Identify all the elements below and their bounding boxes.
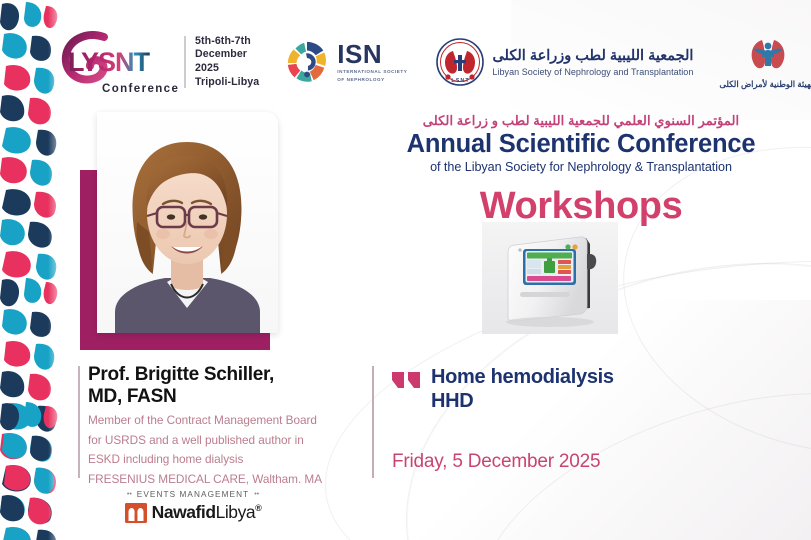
topic-date: Friday, 5 December 2025 bbox=[392, 451, 722, 473]
date-month: December bbox=[195, 48, 259, 62]
topic-title-line1: Home hemodialysis bbox=[431, 366, 614, 390]
speaker-photo bbox=[97, 112, 278, 333]
dots-right: •• bbox=[254, 491, 259, 498]
nakd-logo: الهيئة الوطنية لأمراض الكلى bbox=[719, 36, 811, 89]
lysnt-logo: LYSNT Conference bbox=[60, 27, 182, 97]
title-subtitle: of the Libyan Society for Nephrology & T… bbox=[371, 160, 791, 176]
nakd-arabic-name: الهيئة الوطنية لأمراض الكلى bbox=[719, 79, 811, 89]
nawafid-libya-logo: NawafidLibya® bbox=[78, 502, 308, 523]
conference-title-block: المؤتمر السنوي العلمي للجمعية الليبية لط… bbox=[371, 112, 791, 225]
kidney-seal-icon: L.S.N.T bbox=[435, 37, 485, 87]
title-main: Annual Scientific Conference bbox=[371, 130, 791, 159]
topic-title-line2: HHD bbox=[431, 390, 614, 414]
lsnt-logo: L.S.N.T الجمعية الليبية لطب وزراعة الكلى… bbox=[435, 37, 693, 87]
speaker-desc-line2: for USRDS and a well published author in bbox=[88, 432, 368, 449]
date-location: Tripoli-Libya bbox=[195, 76, 259, 90]
speaker-info: Prof. Brigitte Schiller, MD, FASN Member… bbox=[88, 364, 368, 488]
svg-text:L.S.N.T: L.S.N.T bbox=[452, 78, 469, 84]
dots-left: •• bbox=[127, 491, 132, 498]
nawafid-arches-icon bbox=[125, 503, 147, 523]
footer-credits: •• EVENTS MANAGEMENT •• NawafidLibya® bbox=[78, 490, 308, 523]
lsnt-arabic-name: الجمعية الليبية لطب وزراعة الكلى bbox=[492, 47, 693, 65]
topic-divider bbox=[372, 366, 374, 478]
isn-circle-arcs-icon bbox=[283, 38, 331, 86]
speaker-desc-line1: Member of the Contract Management Board bbox=[88, 412, 368, 429]
portrait-frame-bottom bbox=[80, 333, 270, 350]
workshops-heading: Workshops bbox=[371, 187, 791, 225]
conference-dates: 5th-6th-7th December 2025 Tripoli-Libya bbox=[195, 35, 259, 89]
nawafid-libya-text: NawafidLibya® bbox=[152, 502, 262, 523]
speaker-name-line1: Prof. Brigitte Schiller, bbox=[88, 364, 368, 386]
brand-light: Libya bbox=[216, 502, 256, 522]
quote-marks-icon bbox=[392, 370, 422, 392]
topic-info: Home hemodialysis HHD Friday, 5 December… bbox=[392, 366, 722, 473]
date-days: 5th-6th-7th bbox=[195, 35, 259, 49]
isn-sub-line2: OF NEPHROLOGY bbox=[337, 77, 407, 83]
title-arabic: المؤتمر السنوي العلمي للجمعية الليبية لط… bbox=[371, 112, 791, 129]
svg-text:LYSNT: LYSNT bbox=[68, 47, 151, 77]
speaker-name-line2: MD, FASN bbox=[88, 386, 368, 408]
date-year: 2025 bbox=[195, 62, 259, 76]
lysnt-conference-word: Conference bbox=[102, 83, 179, 95]
kidney-figure-icon bbox=[746, 36, 790, 76]
speaker-divider bbox=[78, 366, 80, 478]
brand-bold: Nawafid bbox=[152, 502, 216, 522]
events-management-text: EVENTS MANAGEMENT bbox=[137, 490, 249, 499]
poster-header: LYSNT Conference 5th-6th-7th December 20… bbox=[60, 16, 801, 108]
lsnt-english-name: Libyan Society of Nephrology and Transpl… bbox=[492, 67, 693, 77]
speaker-desc-line4: FRESENIUS MEDICAL CARE, Waltham. MA bbox=[88, 471, 368, 488]
isn-sub-line1: INTERNATIONAL SOCIETY bbox=[337, 69, 407, 75]
speaker-portrait bbox=[80, 112, 278, 350]
speaker-desc-line3: ESKD including home dialysis bbox=[88, 451, 368, 468]
header-divider-1 bbox=[184, 36, 186, 88]
isn-abbr: ISN bbox=[337, 41, 407, 67]
events-management-label: •• EVENTS MANAGEMENT •• bbox=[78, 490, 308, 499]
brand-star: ® bbox=[255, 503, 261, 513]
hemodialysis-machine-image bbox=[482, 222, 618, 334]
portrait-frame-left bbox=[80, 170, 97, 350]
isn-logo: ISN INTERNATIONAL SOCIETY OF NEPHROLOGY bbox=[283, 38, 407, 86]
